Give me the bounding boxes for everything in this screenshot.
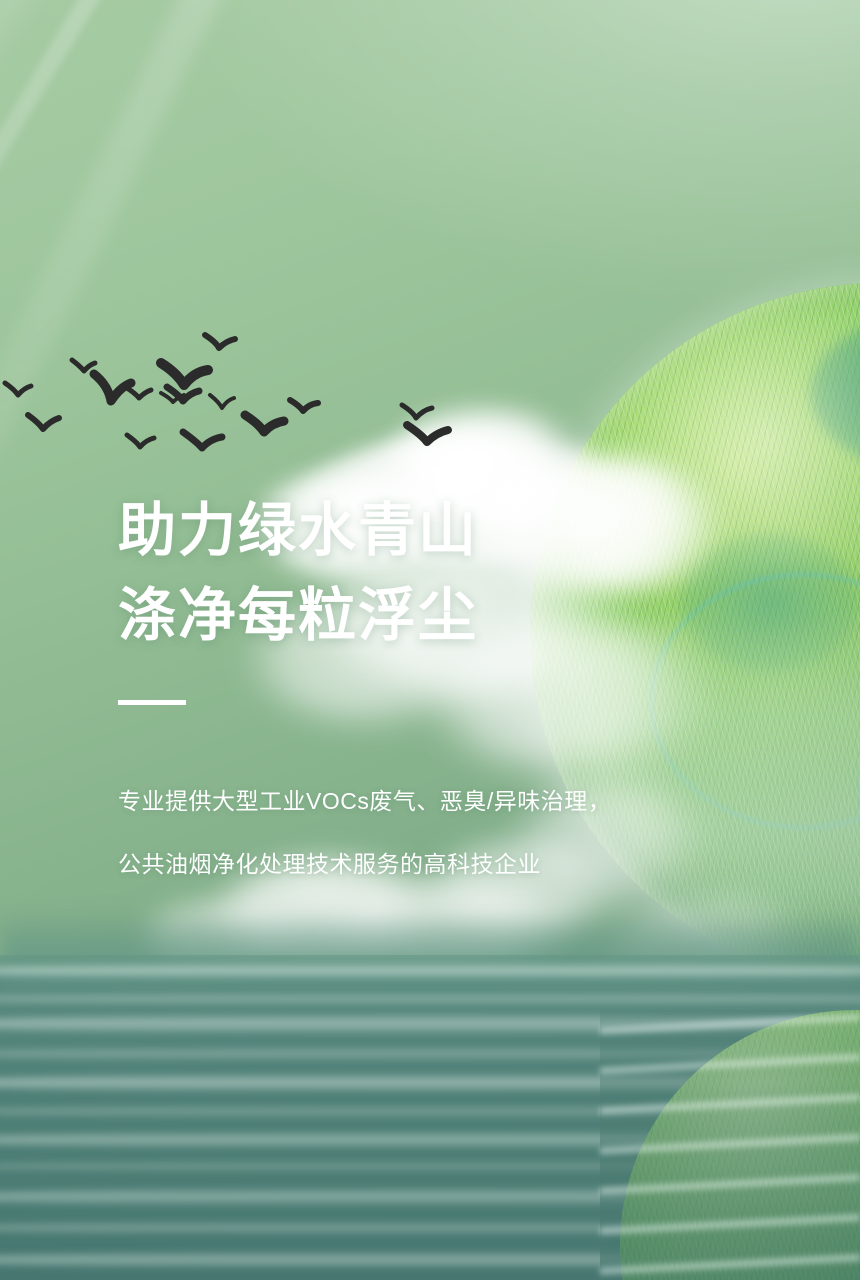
water-ripple	[0, 1013, 860, 1035]
water-ripple	[0, 963, 860, 979]
subtitle-line-2: 公共油烟净化处理技术服务的高科技企业	[118, 844, 678, 884]
headline-line-2: 涤净每粒浮尘	[118, 573, 678, 658]
headline-line-1: 助力绿水青山	[118, 488, 678, 573]
flying-birds-flock	[0, 330, 480, 460]
hero-banner: 助力绿水青山 涤净每粒浮尘 专业提供大型工业VOCs废气、恶臭/异味治理， 公共…	[0, 0, 860, 1280]
birds-svg	[0, 330, 480, 460]
water-ripple	[0, 993, 860, 1005]
subtitle-line-1: 专业提供大型工业VOCs废气、恶臭/异味治理，	[118, 781, 678, 821]
headline-divider	[118, 700, 186, 705]
hero-copy-block: 助力绿水青山 涤净每粒浮尘 专业提供大型工业VOCs废气、恶臭/异味治理， 公共…	[118, 488, 678, 907]
